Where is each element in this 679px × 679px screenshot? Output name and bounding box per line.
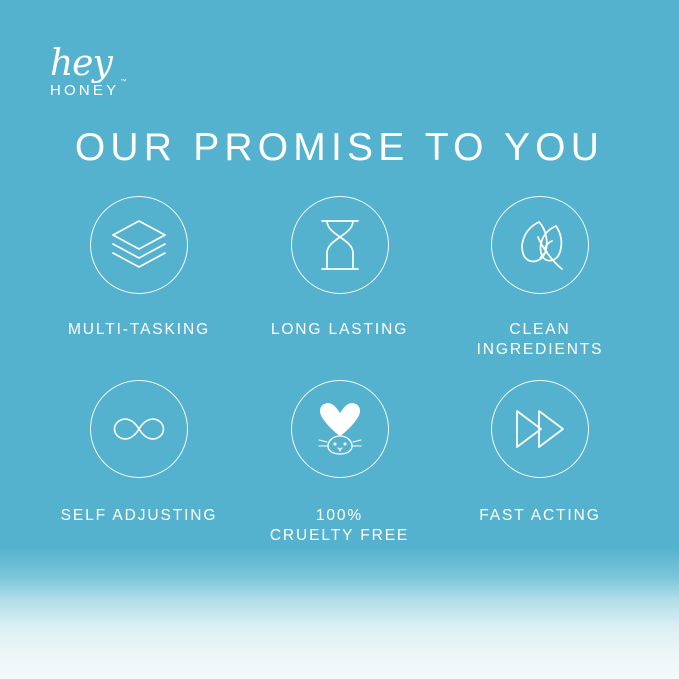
- fast-forward-icon: [508, 397, 572, 461]
- brand-logo: hey HONEY™: [50, 46, 200, 108]
- page-title: OUR PROMISE TO YOU: [0, 126, 679, 170]
- promise-label: MULTI-TASKING: [68, 320, 210, 340]
- promise-grid: MULTI-TASKING LONG LASTING: [44, 196, 635, 546]
- promise-label: LONG LASTING: [271, 320, 408, 340]
- bunny-heart-icon: [308, 397, 372, 461]
- promise-label: CLEAN INGREDIENTS: [477, 320, 604, 360]
- promise-item-multi-tasking: MULTI-TASKING: [44, 196, 234, 340]
- trademark-symbol: ™: [120, 79, 126, 85]
- promise-icon-badge: [491, 380, 589, 478]
- infinity-icon: [107, 397, 171, 461]
- promise-item-clean-ingredients: CLEAN INGREDIENTS: [445, 196, 635, 360]
- layers-icon: [107, 213, 171, 277]
- promise-item-fast-acting: FAST ACTING: [445, 380, 635, 526]
- promise-label: SELF ADJUSTING: [61, 506, 218, 526]
- promise-row-1: MULTI-TASKING LONG LASTING: [44, 196, 635, 360]
- promise-icon-badge: [90, 380, 188, 478]
- promise-item-cruelty-free: 100% CRUELTY FREE: [245, 380, 435, 546]
- promise-icon-badge: [291, 196, 389, 294]
- promise-item-self-adjusting: SELF ADJUSTING: [44, 380, 234, 526]
- brand-word-text: HONEY: [50, 82, 119, 99]
- promise-poster: hey HONEY™ OUR PROMISE TO YOU MULTI-TASK…: [0, 0, 679, 679]
- hourglass-icon: [308, 213, 372, 277]
- promise-item-long-lasting: LONG LASTING: [245, 196, 435, 340]
- promise-row-2: SELF ADJUSTING: [44, 380, 635, 546]
- promise-icon-badge: [90, 196, 188, 294]
- promise-label: FAST ACTING: [479, 506, 600, 526]
- promise-icon-badge: [291, 380, 389, 478]
- brand-word-name: HONEY™: [50, 82, 200, 99]
- promise-icon-badge: [491, 196, 589, 294]
- leaves-icon: [508, 213, 572, 277]
- promise-label: 100% CRUELTY FREE: [270, 506, 409, 546]
